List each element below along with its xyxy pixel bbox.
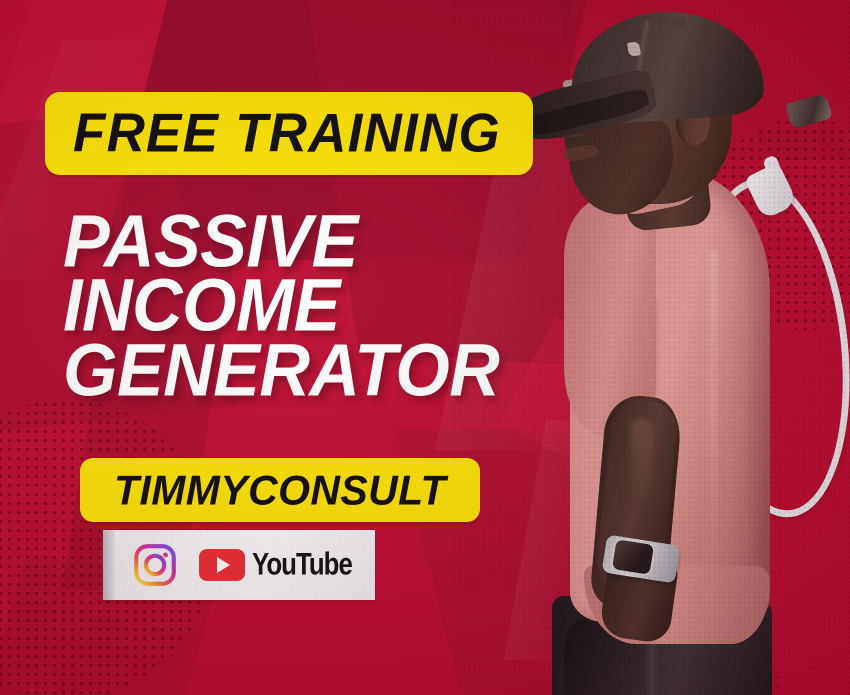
play-triangle-icon (217, 557, 230, 573)
headline-line-3: GENERATOR (63, 336, 603, 404)
brand-handle-label: TIMMYCONSULT (114, 469, 446, 511)
youtube-icon (199, 549, 245, 581)
youtube-link[interactable]: YouTube (199, 549, 368, 581)
page-title: PASSIVE INCOME GENERATOR (63, 207, 603, 400)
banner-content: FREE TRAINING PASSIVE INCOME GENERATOR T… (0, 0, 850, 695)
free-training-label: FREE TRAINING (73, 106, 501, 161)
instagram-icon[interactable] (133, 543, 177, 587)
brand-handle-badge[interactable]: TIMMYCONSULT (80, 458, 480, 522)
free-training-badge[interactable]: FREE TRAINING (45, 92, 533, 175)
social-links-bar: YouTube (103, 530, 375, 600)
youtube-wordmark: YouTube (252, 549, 352, 581)
promo-banner: FREE TRAINING PASSIVE INCOME GENERATOR T… (0, 0, 850, 695)
social-bar-left-edge (103, 530, 115, 600)
